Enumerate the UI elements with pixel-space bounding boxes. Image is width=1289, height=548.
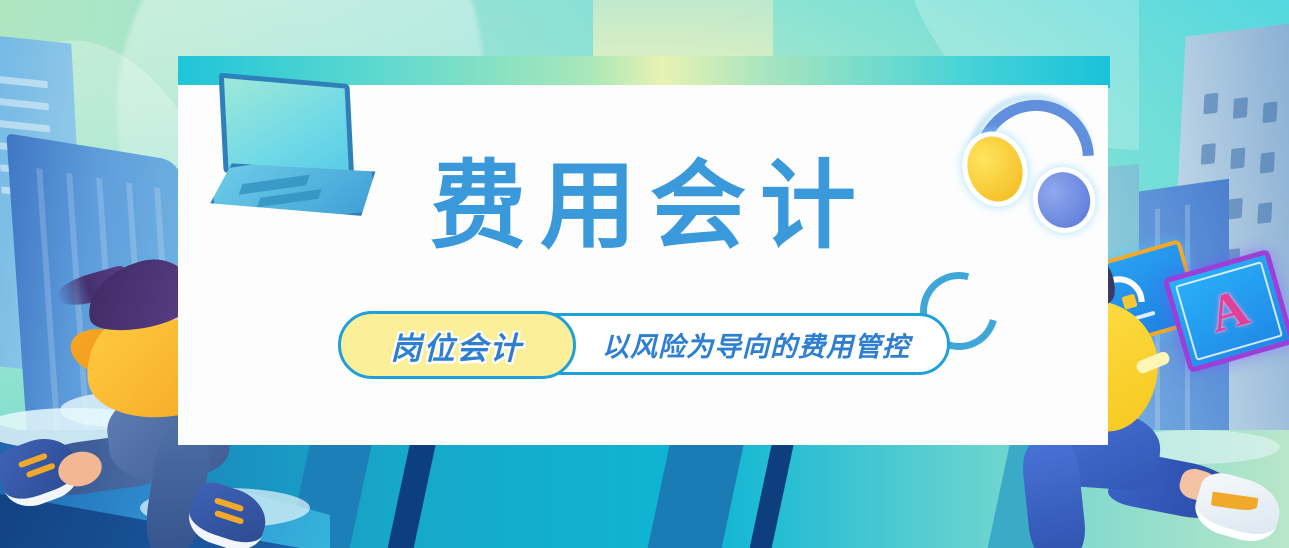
subtitle-tag-label: 岗位会计 [391,323,523,368]
page-title: 费用会计 [178,158,1108,254]
subtitle-pill-group: 以风险为导向的费用管控 岗位会计 [340,313,950,375]
subtitle-text: 以风险为导向的费用管控 [575,313,938,375]
subtitle-tag-badge: 岗位会计 [338,311,576,379]
course-banner: A [0,0,1289,548]
